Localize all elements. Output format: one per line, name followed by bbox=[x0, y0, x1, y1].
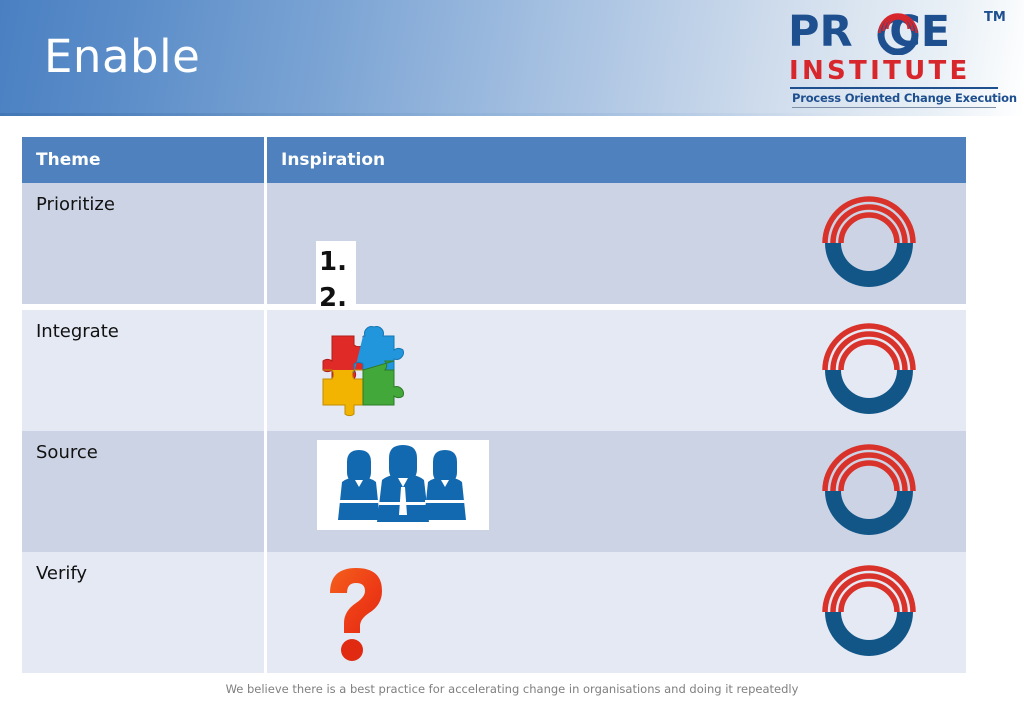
logo-divider bbox=[790, 87, 998, 89]
table-row: Prioritize 1. 2. 3. bbox=[22, 183, 966, 304]
question-mark-icon bbox=[312, 560, 417, 665]
column-header-theme: Theme bbox=[22, 137, 264, 183]
slide-footer-text: We believe there is a best practice for … bbox=[0, 682, 1024, 696]
cell-theme: Verify bbox=[22, 552, 264, 673]
logo-wordmark-text: PROCE bbox=[788, 8, 950, 56]
cell-theme: Integrate bbox=[22, 310, 264, 431]
logo-subtitle: INSTITUTE bbox=[789, 56, 971, 86]
column-header-inspiration: Inspiration bbox=[267, 137, 966, 183]
cell-inspiration bbox=[267, 552, 966, 673]
proce-ring-icon bbox=[819, 193, 932, 293]
proce-ring-icon bbox=[819, 441, 932, 541]
cell-theme: Prioritize bbox=[22, 183, 264, 304]
cell-theme: Source bbox=[22, 431, 264, 552]
table-row: Source bbox=[22, 431, 966, 552]
cell-inspiration: 1. 2. 3. bbox=[267, 183, 966, 304]
business-team-figures bbox=[317, 440, 489, 530]
logo-tagline: Process Oriented Change Execution bbox=[792, 91, 1017, 105]
cell-inspiration bbox=[267, 431, 966, 552]
page-title: Enable bbox=[44, 34, 200, 79]
logo-trademark: TM bbox=[984, 10, 1006, 25]
logo-ring-o-icon bbox=[876, 11, 920, 55]
table-row: Integrate bbox=[22, 310, 966, 431]
logo-wordmark-row: PROCE TM bbox=[788, 8, 1010, 56]
table-header-row: Theme Inspiration bbox=[22, 137, 966, 183]
proce-institute-logo: PROCE TM INSTITUTE Process Oriented Chan… bbox=[788, 8, 1010, 110]
table-row: Verify bbox=[22, 552, 966, 673]
jigsaw-puzzle-icon bbox=[302, 322, 434, 420]
business-team-icon bbox=[317, 440, 489, 530]
proce-ring-icon bbox=[819, 320, 932, 420]
proce-ring-icon bbox=[819, 562, 932, 662]
logo-divider-bottom bbox=[792, 107, 996, 108]
cell-inspiration bbox=[267, 310, 966, 431]
list-number-1: 1. bbox=[319, 244, 347, 280]
